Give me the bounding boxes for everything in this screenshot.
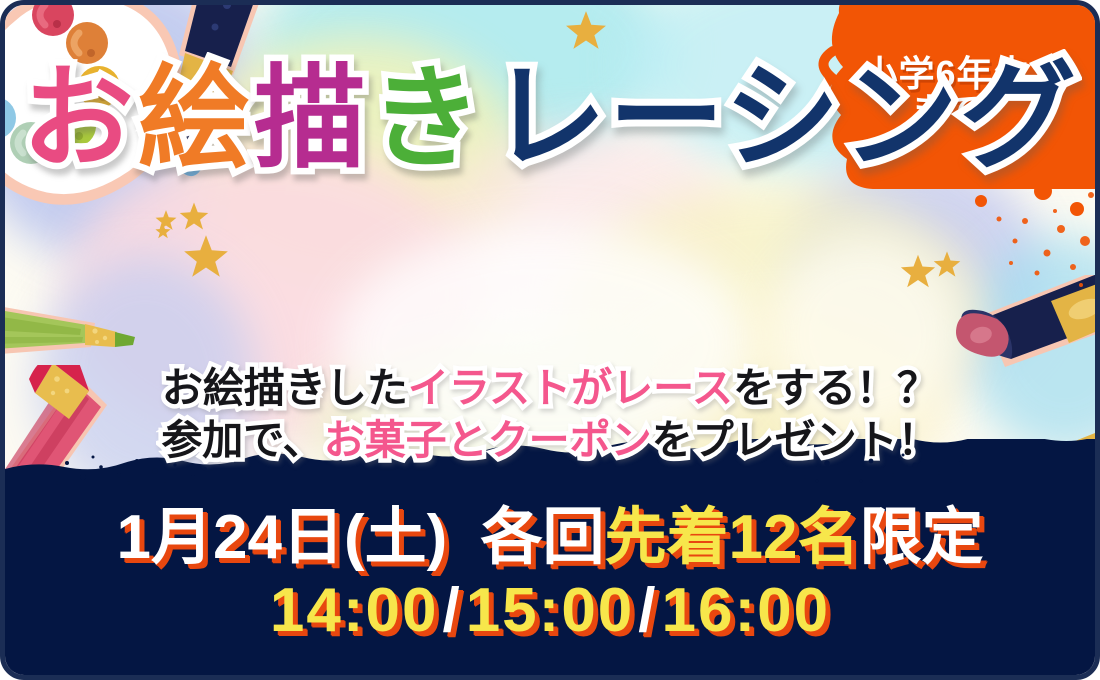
subtitle-line-two: 参加で、お菓子とクーポンをプレゼント！ — [5, 415, 1095, 467]
capacity-suffix: 限定 — [859, 503, 983, 572]
title-line-two: レーシング — [490, 59, 1078, 175]
event-date-row: 1月24日(土) 各回先着12名限定 — [117, 505, 984, 571]
time-separator-2: / — [634, 576, 661, 645]
title-line-one: お絵描き — [22, 63, 486, 175]
subtitle-1-b: イラストがレース — [408, 365, 733, 411]
title-char-4: き — [370, 63, 486, 175]
subtitle-block: お絵描きしたイラストがレースをする！？ 参加で、お菓子とクーポンをプレゼント！ — [5, 363, 1095, 466]
subtitle-1-c: をする！？ — [733, 365, 938, 411]
title-char-3: 描 — [254, 63, 370, 175]
footer-content: 1月24日(土) 各回先着12名限定 14:00/15:00/16:00 — [5, 475, 1095, 675]
subtitle-2-a: 参加で、 — [161, 417, 323, 463]
time-separator-1: / — [438, 576, 465, 645]
star-decoration-4 — [565, 9, 607, 51]
time-slot-3: 16:00 — [662, 576, 831, 645]
time-slot-2: 15:00 — [466, 576, 635, 645]
star-decoration-2 — [183, 233, 229, 279]
time-slot-1: 14:00 — [270, 576, 439, 645]
subtitle-2-b: お菓子とクーポン — [324, 417, 652, 463]
event-date: 1月24日(土) — [117, 503, 448, 572]
subtitle-line-one: お絵描きしたイラストがレースをする！？ — [5, 363, 1095, 415]
title-char-2: 絵 — [138, 63, 254, 175]
main-title: お絵描き レーシング — [5, 63, 1095, 175]
subtitle-1-a: お絵描きした — [162, 365, 408, 411]
event-time-row: 14:00/15:00/16:00 — [270, 577, 830, 645]
capacity-count: 先着12名 — [605, 503, 860, 572]
promo-banner: 小学6年生 まで — [0, 0, 1100, 680]
subtitle-2-c: をプレゼント！ — [652, 417, 939, 463]
capacity-prefix: 各回 — [480, 503, 604, 572]
title-char-1: お — [22, 63, 138, 175]
